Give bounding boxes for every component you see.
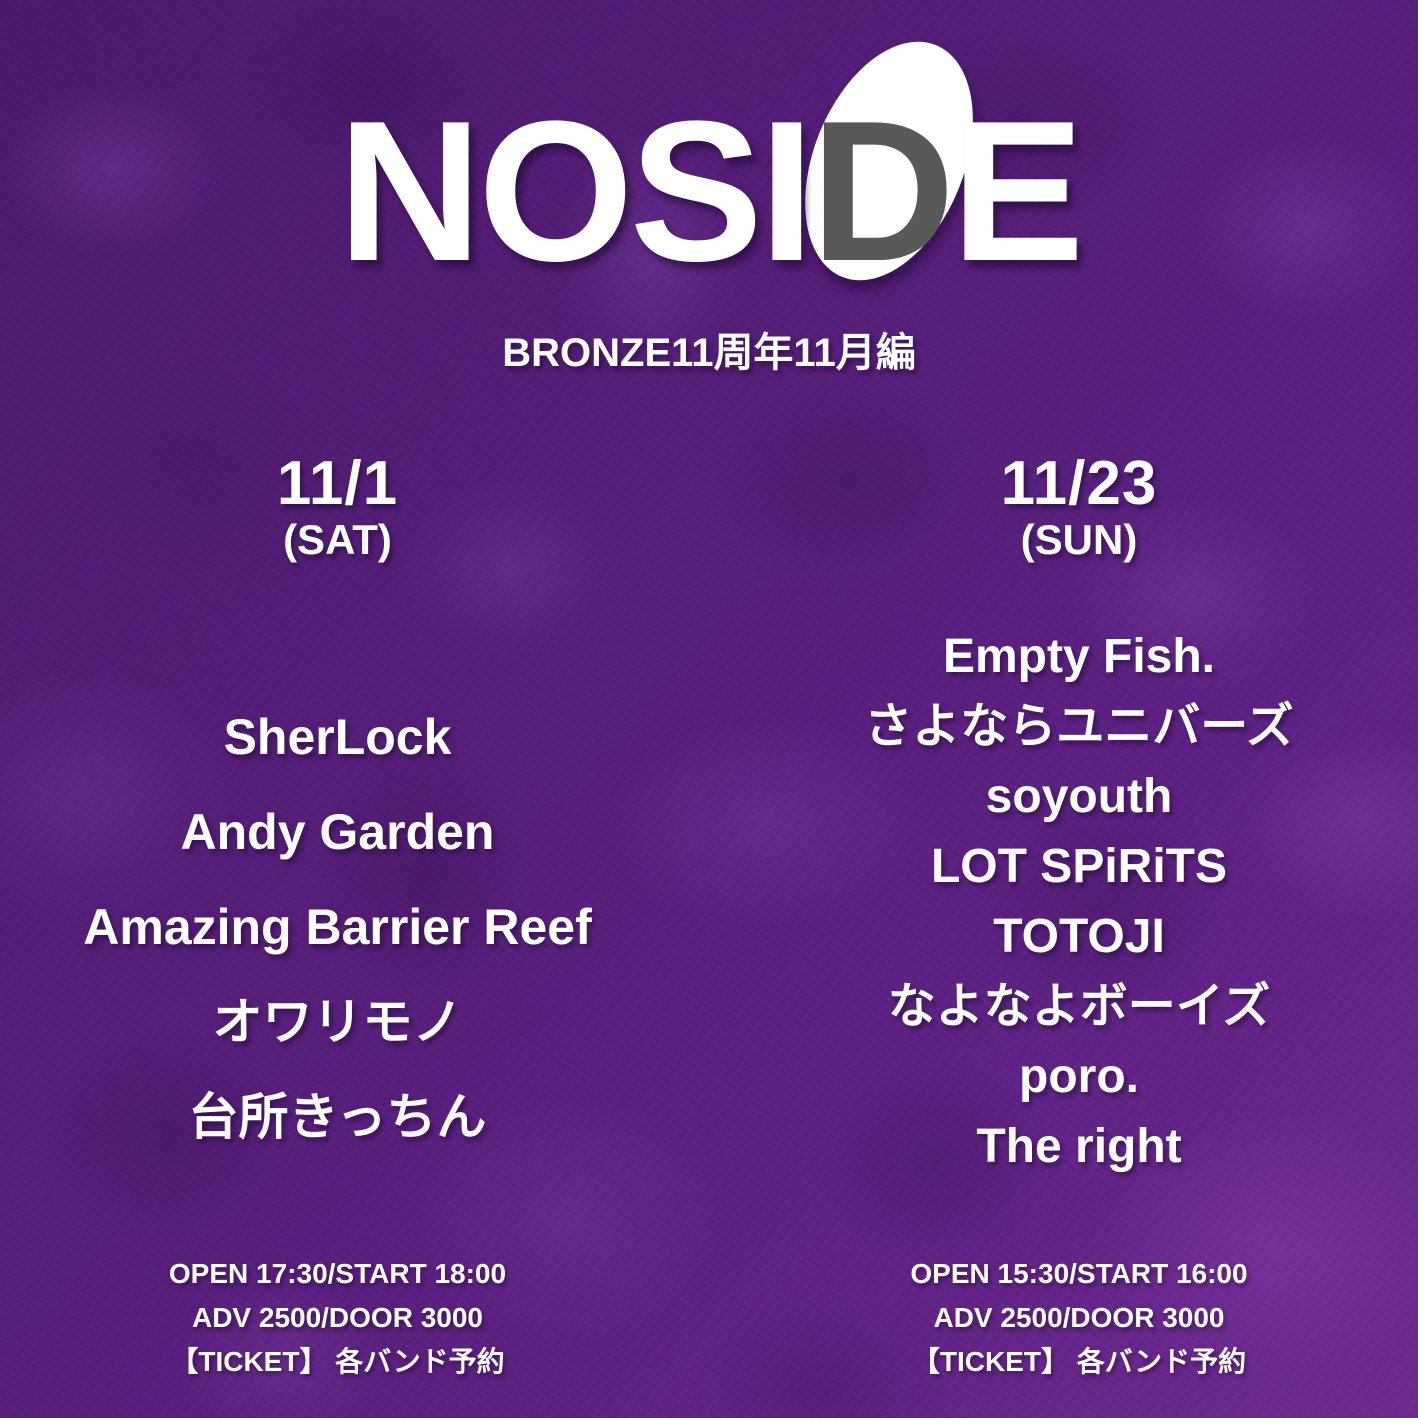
band-name: Andy Garden (0, 785, 675, 880)
event-flyer: NOSIDE BRONZE11周年11月編 11/1 (SAT) SherLoc… (0, 0, 1418, 1418)
logo-text-part1: NOSI (338, 80, 811, 303)
band-name: poro. (745, 1042, 1413, 1112)
day1-times: OPEN 17:30/START 18:00 (0, 1252, 675, 1296)
day2-weekday: (SUN) (745, 516, 1413, 564)
logo-subtitle: BRONZE11周年11月編 (0, 320, 1418, 378)
day1-price: ADV 2500/DOOR 3000 (0, 1296, 675, 1340)
band-name: LOT SPiRiTS (745, 832, 1413, 902)
band-name: なよなよボーイズ (745, 972, 1413, 1042)
band-name: オワリモノ (0, 975, 675, 1070)
logo-letter-d: D (811, 80, 951, 303)
day2-info-block: OPEN 15:30/START 16:00 ADV 2500/DOOR 300… (745, 1252, 1413, 1384)
day1-date: 11/1 (0, 448, 675, 519)
band-name: SherLock (0, 690, 675, 785)
logo-wordmark: NOSIDE (338, 92, 1081, 292)
band-name: さよならユニバーズ (745, 692, 1413, 762)
day1-weekday: (SAT) (0, 516, 675, 564)
day1-ticket: 【TICKET】 各バンド予約 (0, 1340, 675, 1384)
day2-times: OPEN 15:30/START 16:00 (745, 1252, 1413, 1296)
logo-text-part2: E (951, 80, 1080, 303)
day2-price: ADV 2500/DOOR 3000 (745, 1296, 1413, 1340)
day1-info-block: OPEN 17:30/START 18:00 ADV 2500/DOOR 300… (0, 1252, 675, 1384)
day2-ticket: 【TICKET】 各バンド予約 (745, 1340, 1413, 1384)
day2-date: 11/23 (745, 448, 1413, 519)
day2-lineup-list: Empty Fish. さよならユニバーズ soyouth LOT SPiRiT… (745, 622, 1413, 1182)
logo-block: NOSIDE (0, 92, 1418, 292)
band-name: TOTOJI (745, 902, 1413, 972)
band-name: Amazing Barrier Reef (0, 880, 675, 975)
band-name: soyouth (745, 762, 1413, 832)
band-name: Empty Fish. (745, 622, 1413, 692)
band-name: The right (745, 1112, 1413, 1182)
day1-lineup-list: SherLock Andy Garden Amazing Barrier Ree… (0, 690, 675, 1165)
band-name: 台所きっちん (0, 1070, 675, 1165)
